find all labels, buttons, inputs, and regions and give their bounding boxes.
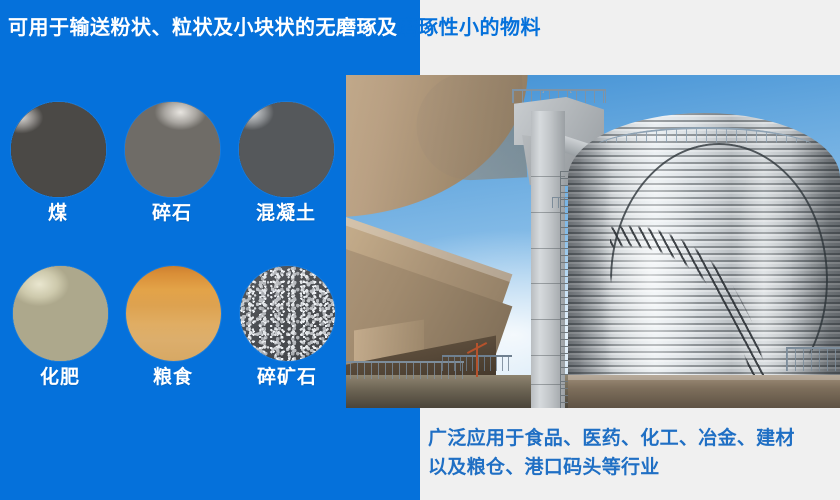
caption-block: 广泛应用于食品、医药、化工、冶金、建材 以及粮仓、港口码头等行业 (428, 424, 832, 483)
grain-photo-circle (126, 266, 221, 361)
material-label: 碎石 (117, 204, 227, 225)
crushed-stone-photo-circle (125, 102, 220, 197)
fertilizer-texture (13, 266, 108, 361)
material-label: 粮食 (118, 368, 228, 389)
crushed-ore-texture (240, 266, 335, 361)
coal-photo-circle (11, 102, 106, 197)
concrete-photo-circle (239, 102, 334, 197)
crushed-ore-photo-circle (240, 266, 335, 361)
silo-concrete-base (568, 375, 840, 408)
caption-line-1: 广泛应用于食品、医药、化工、冶金、建材 (428, 424, 832, 453)
promo-banner: 可用于输送粉状、粒状及小块状的无磨琢及磨琢性小的物料 (0, 0, 840, 500)
coal-texture (11, 102, 106, 197)
crane-icon (466, 343, 488, 377)
grain-texture (126, 266, 221, 361)
right-platform (786, 347, 840, 371)
fertilizer-photo-circle (13, 266, 108, 361)
page-title-primary: 可用于输送粉状、粒状及小块状的无磨琢及 (8, 17, 398, 39)
material-label: 混凝土 (231, 204, 341, 225)
material-item-crushed-ore[interactable]: 碎矿石 (232, 266, 342, 389)
material-grid: 煤 碎石 混凝土 化肥 (0, 72, 420, 500)
caption-line-2: 以及粮仓、港口码头等行业 (428, 453, 832, 482)
silo-photo (346, 75, 840, 408)
material-item-crushed-stone[interactable]: 碎石 (117, 102, 227, 225)
crushed-stone-texture (125, 102, 220, 197)
material-label: 煤 (3, 204, 113, 225)
page-title-secondary: 磨琢性小的物料 (398, 17, 542, 39)
material-label: 碎矿石 (232, 368, 342, 389)
material-item-grain[interactable]: 粮食 (118, 266, 228, 389)
page-title: 可用于输送粉状、粒状及小块状的无磨琢及磨琢性小的物料 (8, 18, 541, 38)
concrete-texture (239, 102, 334, 197)
material-label: 化肥 (5, 368, 115, 389)
material-item-coal[interactable]: 煤 (3, 102, 113, 225)
material-item-fertilizer[interactable]: 化肥 (5, 266, 115, 389)
material-item-concrete[interactable]: 混凝土 (231, 102, 341, 225)
